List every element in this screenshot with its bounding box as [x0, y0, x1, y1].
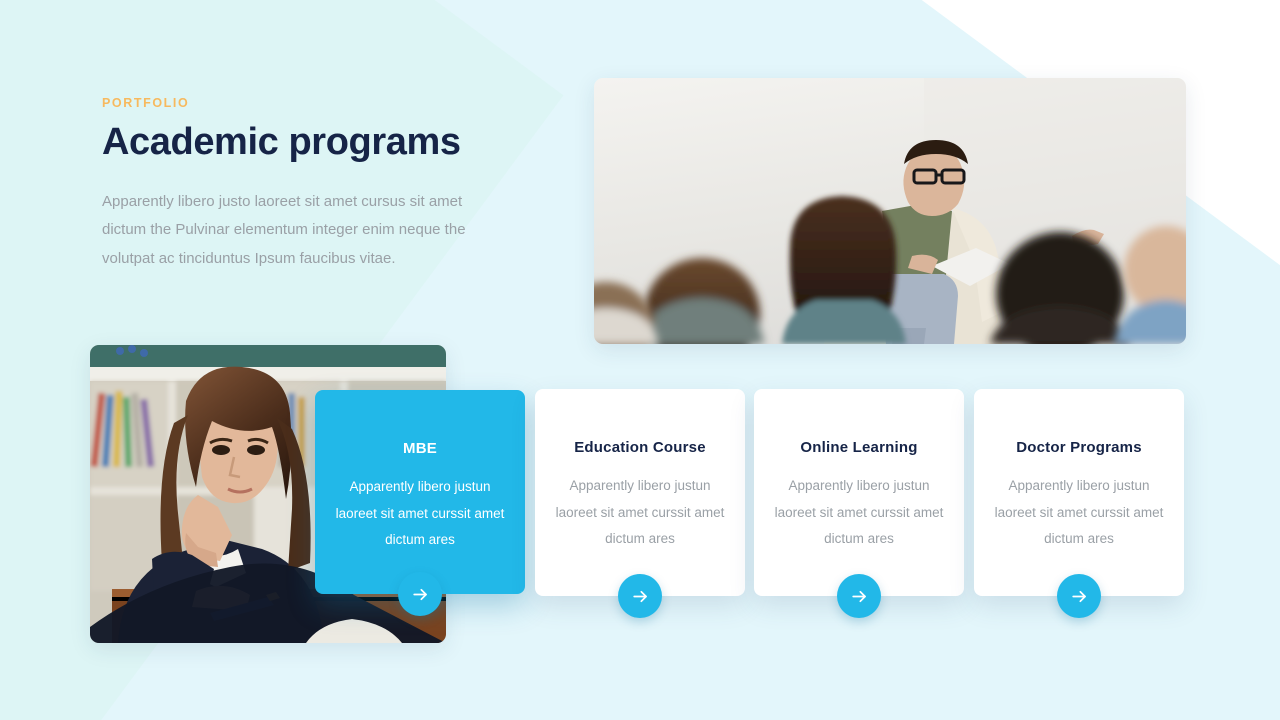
intro-paragraph: Apparently libero justo laoreet sit amet…: [102, 188, 494, 274]
lecture-photo-graphic: [594, 78, 1186, 344]
lecture-photo: [594, 78, 1186, 344]
card-title: Online Learning: [772, 439, 946, 456]
card-body: Apparently libero justun laoreet sit ame…: [553, 473, 727, 553]
intro-block: PORTFOLIO Academic programs Apparently l…: [102, 96, 522, 273]
arrow-right-glyph: [1070, 587, 1089, 606]
program-card-doctor-programs[interactable]: Doctor Programs Apparently libero justun…: [974, 389, 1184, 596]
card-body: Apparently libero justun laoreet sit ame…: [333, 474, 507, 554]
card-body: Apparently libero justun laoreet sit ame…: [992, 473, 1166, 553]
eyebrow-label: PORTFOLIO: [102, 96, 522, 110]
program-card-mbe[interactable]: MBE Apparently libero justun laoreet sit…: [315, 390, 525, 594]
card-title: MBE: [333, 440, 507, 457]
card-title: Doctor Programs: [992, 439, 1166, 456]
arrow-right-glyph: [411, 585, 430, 604]
slide-canvas: PORTFOLIO Academic programs Apparently l…: [0, 0, 1280, 720]
card-body: Apparently libero justun laoreet sit ame…: [772, 473, 946, 553]
program-card-education-course[interactable]: Education Course Apparently libero justu…: [535, 389, 745, 596]
page-title: Academic programs: [102, 122, 522, 164]
arrow-right-icon[interactable]: [1057, 574, 1101, 618]
arrow-right-icon[interactable]: [837, 574, 881, 618]
program-card-online-learning[interactable]: Online Learning Apparently libero justun…: [754, 389, 964, 596]
arrow-right-glyph: [631, 587, 650, 606]
card-title: Education Course: [553, 439, 727, 456]
arrow-right-glyph: [850, 587, 869, 606]
arrow-right-icon[interactable]: [398, 572, 442, 616]
arrow-right-icon[interactable]: [618, 574, 662, 618]
